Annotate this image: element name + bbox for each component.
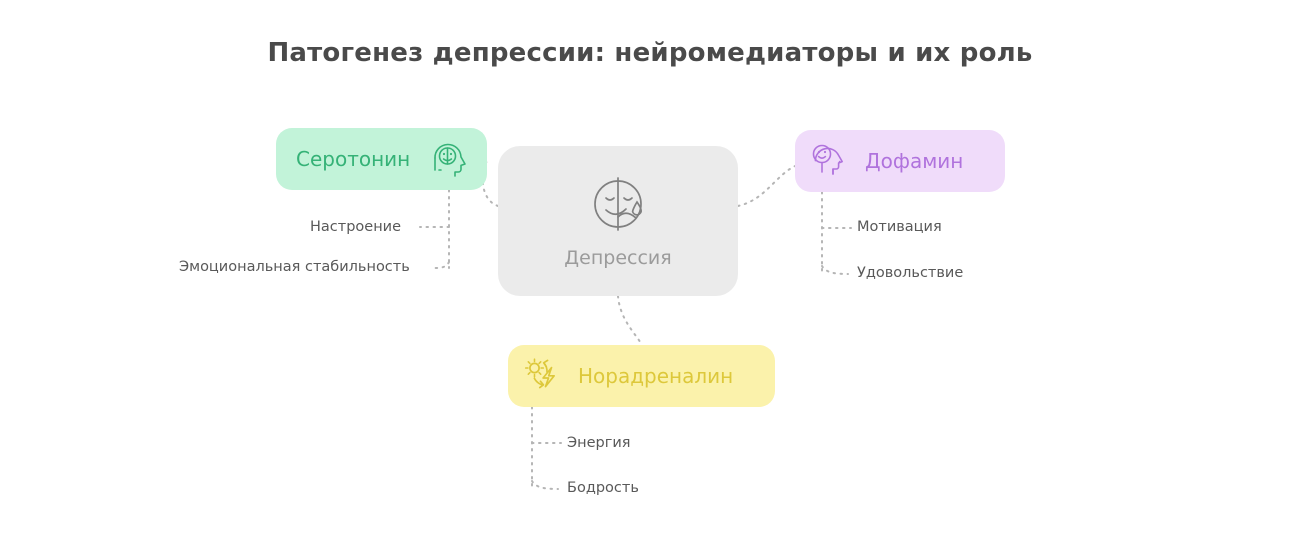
connector-dopamine-pleasure bbox=[822, 266, 848, 274]
node-noradrenaline[interactable]: Норадреналин bbox=[508, 345, 775, 407]
sublabel-noradrenaline-energy: Энергия bbox=[567, 435, 631, 451]
sublabel-serotonin-mood: Настроение bbox=[310, 219, 401, 235]
node-serotonin[interactable]: Серотонин bbox=[276, 128, 487, 190]
connector-center-dopamine bbox=[738, 166, 795, 206]
connector-serotonin-emostab bbox=[434, 262, 449, 268]
node-noradrenaline-label: Норадреналин bbox=[578, 364, 733, 388]
sun-with-lightning-bolt-icon bbox=[522, 355, 566, 397]
connector-noradrenaline-vigour bbox=[532, 481, 558, 489]
sublabel-noradrenaline-vigour: Бодрость bbox=[567, 480, 639, 496]
head-with-face-icon bbox=[431, 139, 471, 179]
center-node-label: Депрессия bbox=[564, 247, 671, 269]
node-dopamine[interactable]: Дофамин bbox=[795, 130, 1005, 192]
half-happy-half-sad-face-with-tear-icon bbox=[587, 173, 649, 235]
sublabel-dopamine-pleasure: Удовольствие bbox=[857, 265, 963, 281]
node-serotonin-label: Серотонин bbox=[296, 147, 410, 171]
connector-center-noradrenaline bbox=[618, 296, 642, 345]
head-with-smiley-icon bbox=[809, 141, 851, 181]
node-dopamine-label: Дофамин bbox=[865, 149, 963, 173]
sublabel-dopamine-motivation: Мотивация bbox=[857, 219, 942, 235]
page-title: Патогенез депрессии: нейромедиаторы и их… bbox=[0, 38, 1300, 68]
center-node-depression[interactable]: Депрессия bbox=[498, 146, 738, 296]
sublabel-serotonin-emotional-stability: Эмоциональная стабильность bbox=[179, 259, 410, 275]
diagram-canvas: Патогенез депрессии: нейромедиаторы и их… bbox=[0, 0, 1300, 546]
